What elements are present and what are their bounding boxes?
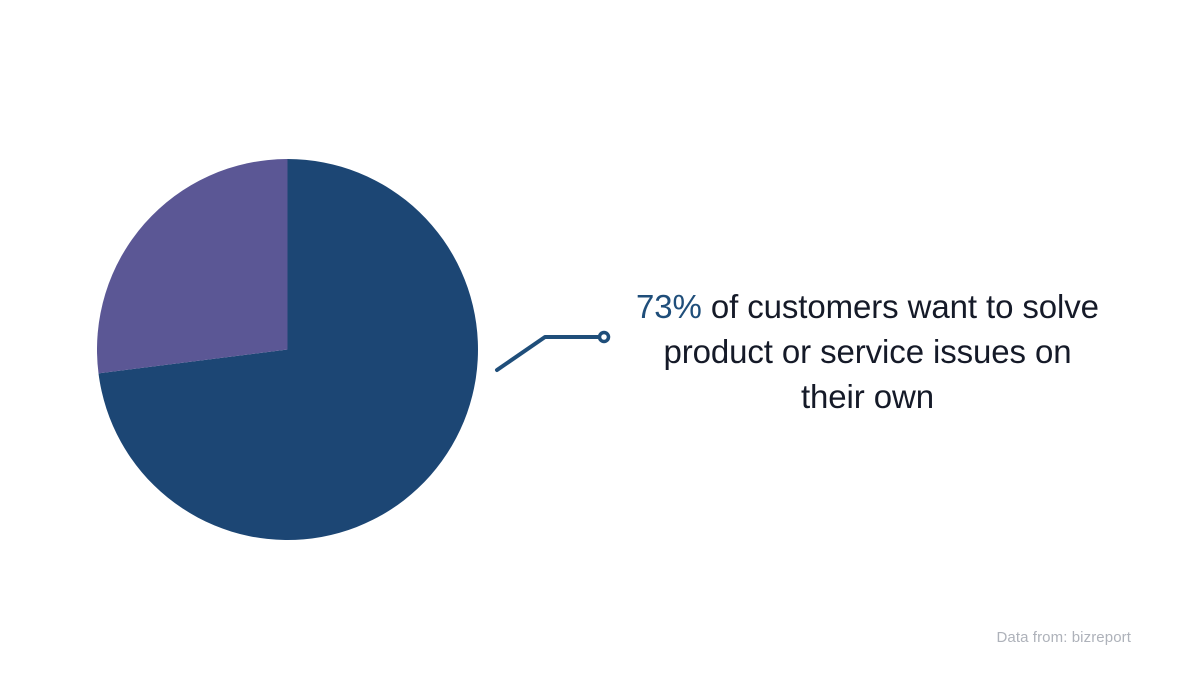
infographic-canvas: 73% of customers want to solve product o… [0, 0, 1200, 700]
callout-percent: 73% [636, 288, 702, 325]
callout-leader-line [486, 320, 616, 386]
pie-chart-svg [97, 159, 478, 540]
data-source-credit: Data from: bizreport [996, 629, 1131, 646]
leader-endpoint-circle-icon [600, 333, 609, 342]
pie-chart [97, 159, 478, 540]
callout-text: 73% of customers want to solve product o… [630, 284, 1105, 419]
leader-polyline [497, 337, 601, 370]
callout-text-rest: of customers want to solve product or se… [663, 288, 1098, 415]
pie-slice-minor[interactable] [97, 159, 287, 373]
